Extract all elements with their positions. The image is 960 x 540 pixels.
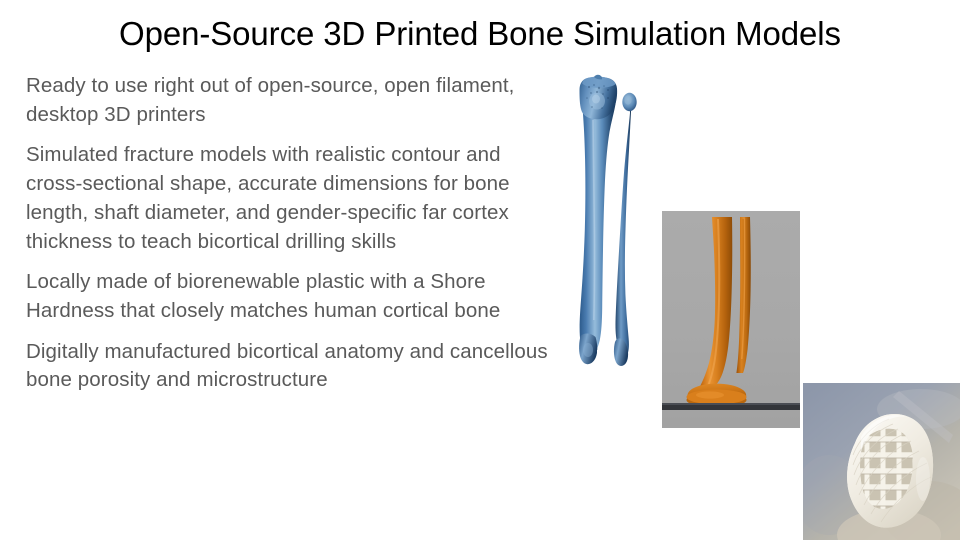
printed-bone-cross-section-photo xyxy=(803,383,960,540)
orange-slicer-preview-tibia xyxy=(662,211,800,428)
slicer-preview-graphic xyxy=(662,211,800,428)
page-title: Open-Source 3D Printed Bone Simulation M… xyxy=(0,14,960,54)
build-plate-edge xyxy=(662,403,800,405)
body-paragraph-1: Ready to use right out of open-source, o… xyxy=(26,72,556,129)
blue-3d-tibia-fibula-render xyxy=(566,74,656,370)
bone-render-graphic xyxy=(566,74,656,370)
fibula-shape xyxy=(615,102,631,356)
base-specular xyxy=(696,391,724,398)
malleolus-highlight xyxy=(583,343,593,357)
slide-canvas: Open-Source 3D Printed Bone Simulation M… xyxy=(0,0,960,540)
tibia-shaft xyxy=(580,88,616,355)
ankle-notch xyxy=(597,348,611,357)
cortex-edge-glow xyxy=(916,457,930,501)
body-text-column: Ready to use right out of open-source, o… xyxy=(26,72,556,395)
printed-photo-graphic xyxy=(803,383,960,540)
fibular-head-highlight xyxy=(624,95,631,104)
tuberosity-highlight xyxy=(592,95,600,104)
body-paragraph-3: Locally made of biorenewable plastic wit… xyxy=(26,268,556,325)
body-paragraph-4: Digitally manufactured bicortical anatom… xyxy=(26,338,556,395)
body-paragraph-2: Simulated fracture models with realistic… xyxy=(26,141,556,256)
